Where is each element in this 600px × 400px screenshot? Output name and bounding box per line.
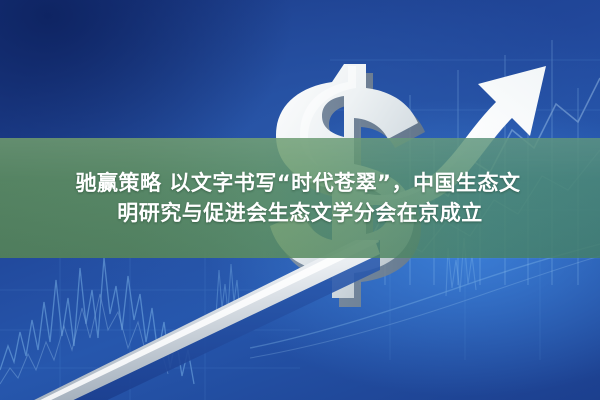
thumbnail-canvas: 驰赢策略 以文字书写“时代苍翠”，中国生态文 明研究与促进会生态文学分会在京成立 [0, 0, 600, 400]
headline-line-2: 明研究与促进会生态文学分会在京成立 [117, 202, 483, 224]
diagonal-ramp-shape [0, 240, 380, 400]
headline-block: 驰赢策略 以文字书写“时代苍翠”，中国生态文 明研究与促进会生态文学分会在京成立 [0, 138, 600, 258]
headline-line-1: 驰赢策略 以文字书写“时代苍翠”，中国生态文 [76, 172, 525, 194]
